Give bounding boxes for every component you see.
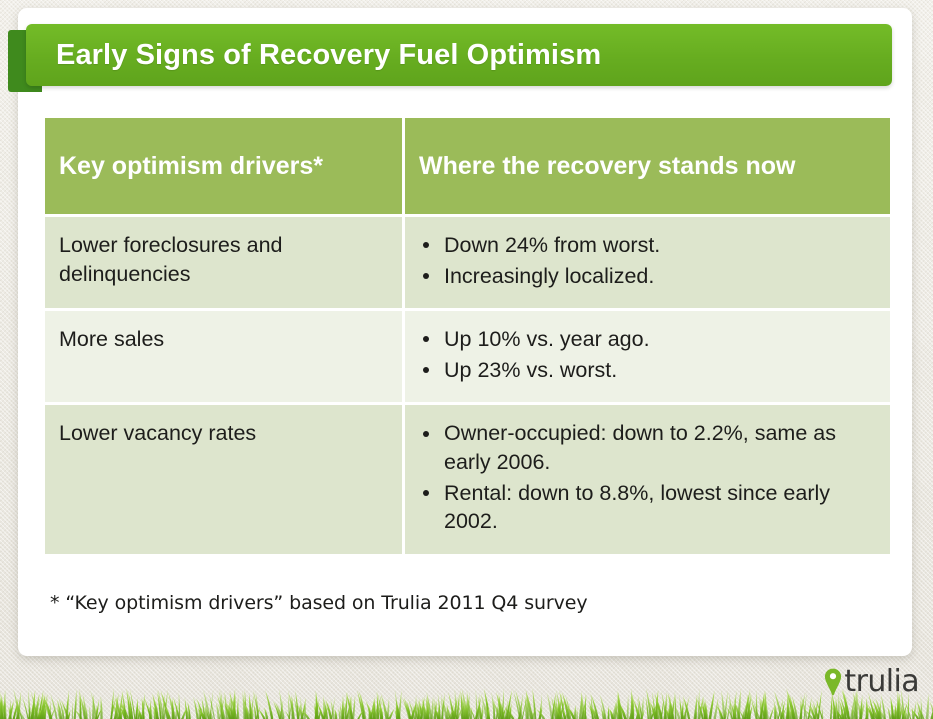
bullet-dot-icon — [423, 336, 429, 342]
table-row: Lower foreclosures and delinquencies Dow… — [45, 217, 890, 311]
list-item: Rental: down to 8.8%, lowest since early… — [415, 479, 876, 536]
column-header-drivers: Key optimism drivers* — [45, 118, 402, 217]
list-item-label: Up 10% vs. year ago. — [444, 327, 650, 351]
slide-title-ribbon: Early Signs of Recovery Fuel Optimism — [8, 24, 892, 86]
cell-driver: Lower foreclosures and delinquencies — [45, 217, 402, 311]
list-item-label: Increasingly localized. — [444, 264, 654, 288]
status-bullet-list: Owner-occupied: down to 2.2%, same as ea… — [415, 419, 876, 535]
table-row: Lower vacancy rates Owner-occupied: down… — [45, 405, 890, 553]
status-bullet-list: Up 10% vs. year ago. Up 23% vs. worst. — [415, 325, 876, 384]
bullet-dot-icon — [423, 431, 429, 437]
cell-status: Up 10% vs. year ago. Up 23% vs. worst. — [402, 311, 890, 405]
footnote-text: * “Key optimism drivers” based on Trulia… — [50, 592, 588, 614]
table-row: More sales Up 10% vs. year ago. Up 23% v… — [45, 311, 890, 405]
list-item-label: Owner-occupied: down to 2.2%, same as ea… — [444, 421, 836, 474]
cell-status: Down 24% from worst. Increasingly locali… — [402, 217, 890, 311]
list-item: Owner-occupied: down to 2.2%, same as ea… — [415, 419, 876, 476]
table-header-row: Key optimism drivers* Where the recovery… — [45, 118, 890, 217]
list-item: Down 24% from worst. — [415, 231, 876, 260]
list-item: Up 10% vs. year ago. — [415, 325, 876, 354]
map-pin-icon — [823, 667, 843, 697]
bullet-dot-icon — [423, 273, 429, 279]
bullet-dot-icon — [423, 367, 429, 373]
cell-status: Owner-occupied: down to 2.2%, same as ea… — [402, 405, 890, 553]
cell-driver: Lower vacancy rates — [45, 405, 402, 553]
column-header-status: Where the recovery stands now — [402, 118, 890, 217]
status-bullet-list: Down 24% from worst. Increasingly locali… — [415, 231, 876, 290]
grass-decoration — [0, 673, 933, 719]
ribbon-banner: Early Signs of Recovery Fuel Optimism — [26, 24, 892, 86]
list-item-label: Rental: down to 8.8%, lowest since early… — [444, 481, 830, 534]
page-title: Early Signs of Recovery Fuel Optimism — [26, 39, 601, 72]
trulia-wordmark: trulia — [844, 667, 919, 697]
list-item: Increasingly localized. — [415, 262, 876, 291]
list-item-label: Up 23% vs. worst. — [444, 358, 617, 382]
bullet-dot-icon — [423, 242, 429, 248]
list-item: Up 23% vs. worst. — [415, 356, 876, 385]
trulia-logo: trulia — [823, 667, 919, 697]
recovery-table: Key optimism drivers* Where the recovery… — [45, 118, 890, 554]
cell-driver: More sales — [45, 311, 402, 405]
bullet-dot-icon — [423, 490, 429, 496]
list-item-label: Down 24% from worst. — [444, 233, 660, 257]
